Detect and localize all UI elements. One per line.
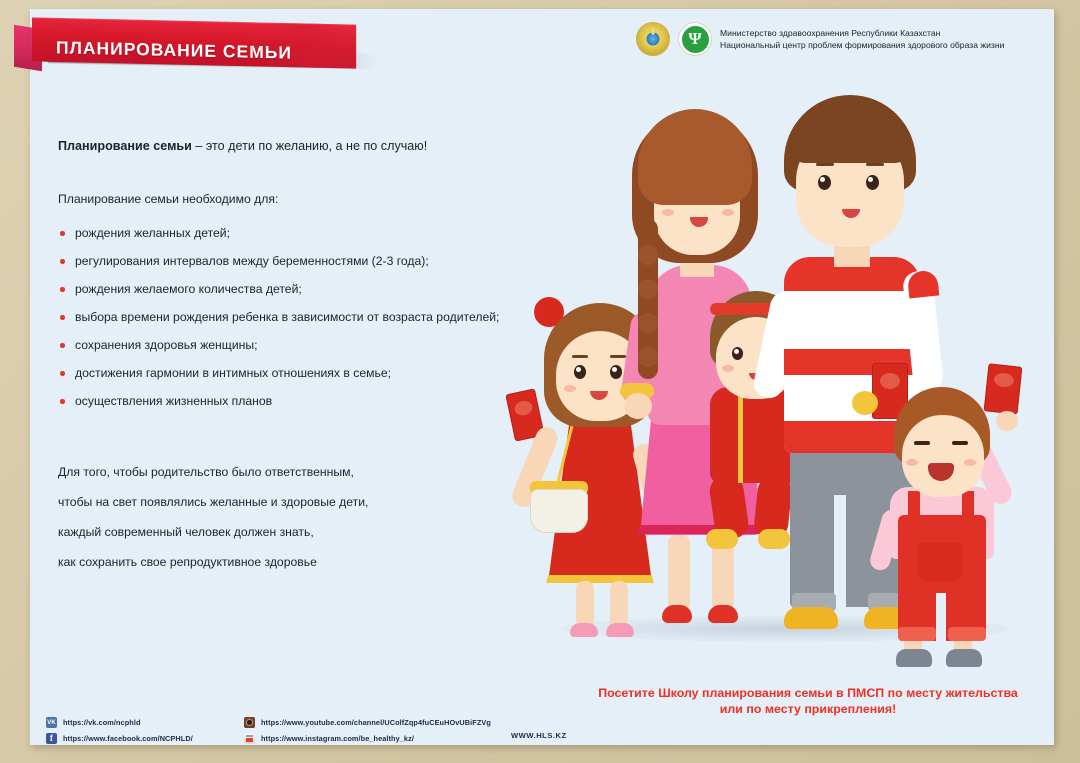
list-item: осуществления жизненных планов bbox=[58, 387, 499, 415]
footer-links: VK https://vk.com/ncphld f https://www.f… bbox=[46, 715, 1026, 749]
list-item: рождения желаемого количества детей; bbox=[58, 275, 499, 303]
closing-line: Для того, чтобы родительство было ответс… bbox=[58, 457, 368, 487]
youtube-icon bbox=[244, 717, 255, 728]
poster: ПЛАНИРОВАНИЕ СЕМЬИ Ψ Министерство здраво… bbox=[0, 0, 1080, 763]
boy-overall-pocket bbox=[918, 543, 962, 581]
boy-right-shoe bbox=[946, 649, 982, 667]
youtube-link[interactable]: https://www.youtube.com/channel/UColfZqp… bbox=[244, 717, 491, 728]
boy-right-pant-cuff bbox=[948, 627, 986, 641]
mother-braid bbox=[638, 219, 658, 379]
mother-hair bbox=[638, 109, 752, 205]
closing-line: каждый современный человек должен знать, bbox=[58, 517, 368, 547]
list-item: выбора времени рождения ребенка в зависи… bbox=[58, 303, 499, 331]
health-center-logo-icon: Ψ bbox=[678, 22, 712, 56]
org-line-2: Национальный центр проблем формирования … bbox=[720, 39, 1004, 51]
youtube-url: https://www.youtube.com/channel/UColfZqp… bbox=[261, 718, 491, 727]
list-item: достижения гармонии в интимных отношения… bbox=[58, 359, 499, 387]
instagram-icon bbox=[244, 733, 255, 744]
lead-statement: Планирование семьи – это дети по желанию… bbox=[58, 139, 427, 153]
instagram-link[interactable]: https://www.instagram.com/be_healthy_kz/ bbox=[244, 733, 491, 744]
title-ribbon: ПЛАНИРОВАНИЕ СЕМЬИ bbox=[8, 17, 528, 77]
girl-left-leg bbox=[576, 581, 594, 629]
boy-child-figure bbox=[868, 357, 1038, 657]
list-item: сохранения здоровья женщины; bbox=[58, 331, 499, 359]
closing-line: чтобы на свет появлялись желанные и здор… bbox=[58, 487, 368, 517]
kazakhstan-coat-of-arms-icon bbox=[636, 22, 670, 56]
boy-face bbox=[902, 415, 984, 497]
closing-paragraph: Для того, чтобы родительство было ответс… bbox=[58, 457, 368, 577]
list-item: регулирования интервалов между беременно… bbox=[58, 247, 499, 275]
boy-raised-hand bbox=[996, 411, 1018, 431]
boy-legs-gap bbox=[936, 593, 946, 641]
footer-group-left: VK https://vk.com/ncphld f https://www.f… bbox=[46, 717, 193, 744]
org-line-1: Министерство здравоохранения Республики … bbox=[720, 27, 1004, 39]
instagram-url: https://www.instagram.com/be_healthy_kz/ bbox=[261, 734, 414, 743]
facebook-url: https://www.facebook.com/NCPHLD/ bbox=[63, 734, 193, 743]
vk-icon: VK bbox=[46, 717, 57, 728]
benefits-list: рождения желанных детей; регулирования и… bbox=[58, 219, 499, 415]
baby-outfit-trim bbox=[738, 387, 743, 483]
list-item: рождения желанных детей; bbox=[58, 219, 499, 247]
vk-link[interactable]: VK https://vk.com/ncphld bbox=[46, 717, 193, 728]
cta-line-1: Посетите Школу планирования семьи в ПМСП… bbox=[558, 685, 1058, 701]
closing-line: как сохранить свое репродуктивное здоров… bbox=[58, 547, 368, 577]
mother-left-hand bbox=[624, 393, 652, 419]
website-url[interactable]: WWW.HLS.KZ bbox=[511, 731, 567, 740]
mother-left-shoe bbox=[662, 605, 692, 623]
lead-rest: – это дети по желанию, а не по случаю! bbox=[192, 139, 427, 153]
facebook-link[interactable]: f https://www.facebook.com/NCPHLD/ bbox=[46, 733, 193, 744]
list-intro: Планирование семьи необходимо для: bbox=[58, 192, 278, 206]
baby-left-shoe bbox=[706, 529, 738, 549]
footer-group-right: https://www.youtube.com/channel/UColfZqp… bbox=[244, 717, 491, 744]
boy-left-shoe bbox=[896, 649, 932, 667]
lead-bold: Планирование семьи bbox=[58, 139, 192, 153]
family-illustration bbox=[500, 95, 1060, 660]
vk-url: https://vk.com/ncphld bbox=[63, 718, 141, 727]
father-left-shoe bbox=[784, 607, 838, 629]
girl-bag bbox=[530, 489, 588, 533]
call-to-action: Посетите Школу планирования семьи в ПМСП… bbox=[558, 685, 1058, 717]
mother-right-shoe bbox=[708, 605, 738, 623]
mother-left-leg bbox=[668, 535, 690, 611]
facebook-icon: f bbox=[46, 733, 57, 744]
organization-name: Министерство здравоохранения Республики … bbox=[720, 27, 1004, 52]
father-pants-gap bbox=[834, 495, 846, 607]
red-envelope-icon bbox=[984, 363, 1023, 414]
boy-left-pant-cuff bbox=[898, 627, 936, 641]
father-hair-fringe bbox=[790, 117, 910, 163]
header-organization: Ψ Министерство здравоохранения Республик… bbox=[636, 22, 1004, 56]
girl-left-shoe bbox=[570, 623, 598, 637]
